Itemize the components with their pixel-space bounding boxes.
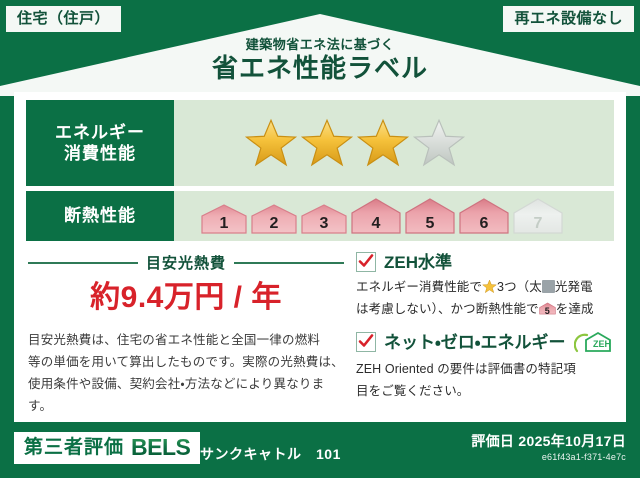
inline-star-icon	[482, 279, 497, 294]
house-level-3-icon: 3	[300, 203, 348, 235]
label-heading: 建築物省エネ法に基づく 省エネ性能ラベル	[0, 38, 640, 84]
house-level-2-icon: 2	[250, 203, 298, 235]
checkbox-checked-icon	[356, 252, 376, 272]
insulation-label: 断熱性能	[64, 205, 136, 226]
house-level-label: 7	[512, 216, 564, 232]
star-filled-icon	[300, 116, 354, 170]
utility-cost-heading: 目安光熱費	[28, 252, 344, 273]
zeh-section: ZEH水準 エネルギー消費性能で3つ（太光発電 は考慮しない）、かつ断熱性能で5…	[344, 252, 616, 418]
house-level-5-icon: 5	[404, 197, 456, 235]
building-name: サンクキャトル 101	[200, 444, 341, 464]
page-title: 省エネ性能ラベル	[0, 54, 640, 84]
inline-house-badge: 5	[539, 301, 556, 316]
house-level-label: 2	[250, 216, 298, 232]
star-filled-icon	[244, 116, 298, 170]
label-card: エネルギー 消費性能	[14, 92, 626, 422]
zeh-standard-description: エネルギー消費性能で3つ（太光発電 は考慮しない）、かつ断熱性能で5を達成	[356, 277, 616, 320]
house-level-7-icon: 7	[512, 197, 564, 235]
badge-building-type: 住宅（住戸）	[6, 6, 121, 32]
insulation-performance-label-cell: 断熱性能	[26, 191, 174, 241]
zeh-standard-block: ZEH水準 エネルギー消費性能で3つ（太光発電 は考慮しない）、かつ断熱性能で5…	[356, 252, 616, 320]
zeh-netzero-title-row: ネット・ゼロ・エネルギー ZEH	[356, 330, 616, 354]
zeh-desc-part-a: エネルギー消費性能で	[356, 280, 482, 294]
house-level-label: 1	[200, 216, 248, 232]
badge-renewable-equipment: 再エネ設備なし	[503, 6, 634, 32]
zeh-netzero-line-1: ZEH Oriented の要件は評価書の特記項	[356, 359, 616, 381]
note-line-1: 目安光熱費は、住宅の省エネ性能と全国一律の燃料	[28, 330, 344, 352]
zeh-logo-icon: ZEH	[574, 330, 614, 354]
zeh-desc-part-c: 光発電	[555, 280, 593, 294]
utility-cost-section: 目安光熱費 約9.4万円 / 年 目安光熱費は、住宅の省エネ性能と全国一律の燃料…	[28, 252, 344, 418]
zeh-standard-title-row: ZEH水準	[356, 252, 616, 272]
footer-meta: 評価日 2025年10月17日 e61f43a1-f371-4e7c	[471, 434, 626, 462]
row-energy-performance: エネルギー 消費性能	[26, 100, 614, 186]
house-level-4-icon: 4	[350, 197, 402, 235]
rating-rows: エネルギー 消費性能	[26, 100, 614, 246]
energy-label-line1: エネルギー	[55, 122, 145, 143]
evaluation-date: 評価日 2025年10月17日	[471, 434, 626, 449]
zeh-netzero-line-2: 目をご覧ください。	[356, 381, 616, 403]
note-line-3: 使用条件や設備、契約会社・方法などにより異なります。	[28, 374, 344, 418]
checkbox-checked-icon	[356, 332, 376, 352]
house-scale: 1 2 3	[200, 197, 564, 235]
utility-cost-heading-text: 目安光熱費	[146, 252, 226, 273]
house-level-label: 6	[458, 216, 510, 232]
lower-section: 目安光熱費 約9.4万円 / 年 目安光熱費は、住宅の省エネ性能と全国一律の燃料…	[28, 252, 616, 418]
utility-cost-note: 目安光熱費は、住宅の省エネ性能と全国一律の燃料 等の単価を用いて算出したものです…	[28, 330, 344, 418]
house-level-6-icon: 6	[458, 197, 510, 235]
star-filled-icon	[356, 116, 410, 170]
star-empty-icon	[412, 116, 466, 170]
zeh-netzero-description: ZEH Oriented の要件は評価書の特記項 目をご覧ください。	[356, 359, 616, 402]
energy-performance-label: 住宅（住戸） 再エネ設備なし 建築物省エネ法に基づく 省エネ性能ラベル エネルギ…	[0, 0, 640, 478]
zeh-standard-title: ZEH水準	[384, 254, 452, 271]
rule-right	[234, 262, 344, 264]
heading-subtitle: 建築物省エネ法に基づく	[0, 38, 640, 52]
zeh-desc-part-d: は考慮しない）、かつ断熱性能で	[356, 302, 539, 316]
bels-jp-text: 第三者評価	[24, 438, 124, 457]
inline-house-number: 5	[539, 307, 556, 316]
energy-performance-value-cell	[174, 100, 614, 186]
zeh-netzero-block: ネット・ゼロ・エネルギー ZEH ZEH Oriented の要件は評価書の特記…	[356, 330, 616, 402]
redacted-character	[542, 280, 555, 293]
bels-logo: 第三者評価 BELS	[14, 432, 200, 464]
house-level-label: 3	[300, 216, 348, 232]
bels-en-text: BELS	[131, 436, 190, 459]
house-level-label: 4	[350, 216, 402, 232]
star-rating	[244, 116, 466, 170]
rule-left	[28, 262, 138, 264]
energy-label-line2: 消費性能	[64, 143, 136, 164]
zeh-netzero-title: ネット・ゼロ・エネルギー	[384, 334, 566, 351]
evaluation-hash: e61f43a1-f371-4e7c	[471, 452, 626, 462]
label-footer: 第三者評価 BELS サンクキャトル 101 評価日 2025年10月17日 e…	[0, 422, 640, 478]
row-insulation-performance: 断熱性能 1 2	[26, 191, 614, 241]
energy-performance-label-cell: エネルギー 消費性能	[26, 100, 174, 186]
house-level-1-icon: 1	[200, 203, 248, 235]
note-line-2: 等の単価を用いて算出したものです。実際の光熱費は、	[28, 352, 344, 374]
house-level-label: 5	[404, 216, 456, 232]
insulation-performance-value-cell: 1 2 3	[174, 191, 614, 241]
svg-text:ZEH: ZEH	[593, 339, 611, 349]
zeh-desc-part-b: 3つ（太	[497, 280, 542, 294]
zeh-desc-part-e: を達成	[556, 302, 594, 316]
utility-cost-value: 約9.4万円 / 年	[28, 281, 344, 314]
